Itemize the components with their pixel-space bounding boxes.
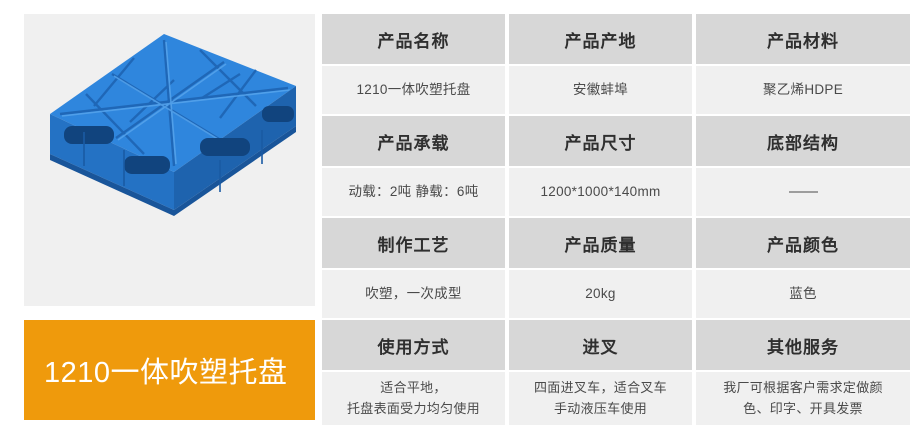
spec-header-cell: 底部结构 — [696, 116, 910, 166]
spec-header-cell: 产品质量 — [509, 218, 692, 268]
spec-value-row: 适合平地， 托盘表面受力均匀使用 四面进叉车，适合叉车 手动液压车使用 我厂可根… — [322, 372, 910, 425]
product-media-column: 1210一体吹塑托盘 — [24, 14, 315, 420]
spec-value-line: —— — [789, 180, 817, 203]
spec-value-line: 1210一体吹塑托盘 — [356, 80, 470, 101]
spec-value-cell: 蓝色 — [696, 270, 910, 318]
spec-value-cell: 20kg — [509, 270, 692, 318]
spec-value-row: 1210一体吹塑托盘 安徽蚌埠 聚乙烯HDPE — [322, 66, 910, 114]
spec-value-cell: —— — [696, 168, 910, 216]
spec-value-cell: 聚乙烯HDPE — [696, 66, 910, 114]
spec-value-line: 1200*1000*140mm — [540, 182, 660, 203]
spec-header-cell: 产品尺寸 — [509, 116, 692, 166]
spec-value-cell: 四面进叉车，适合叉车 手动液压车使用 — [509, 372, 692, 425]
spec-header-cell: 产品产地 — [509, 14, 692, 64]
spec-header-row: 产品名称 产品产地 产品材料 — [322, 14, 910, 64]
spec-header-row: 产品承载 产品尺寸 底部结构 — [322, 116, 910, 166]
spec-value-line: 动载：2吨 静载：6吨 — [348, 182, 478, 203]
spec-value-cell: 适合平地， 托盘表面受力均匀使用 — [322, 372, 505, 425]
spec-value-row: 动载：2吨 静载：6吨 1200*1000*140mm —— — [322, 168, 910, 216]
specification-table: 产品名称 产品产地 产品材料 1210一体吹塑托盘 安徽蚌埠 聚乙烯HDPE 产… — [322, 14, 910, 420]
spec-header-cell: 产品承载 — [322, 116, 505, 166]
spec-value-line: 聚乙烯HDPE — [763, 80, 843, 101]
spec-value-row: 吹塑，一次成型 20kg 蓝色 — [322, 270, 910, 318]
spec-header-cell: 产品材料 — [696, 14, 910, 64]
spec-header-cell: 产品名称 — [322, 14, 505, 64]
spec-header-cell: 使用方式 — [322, 320, 505, 370]
spec-value-cell: 我厂可根据客户需求定做颜 色、印字、开具发票 — [696, 372, 910, 425]
spec-value-line: 托盘表面受力均匀使用 — [347, 399, 480, 419]
spec-value-line: 适合平地， — [347, 378, 480, 398]
spec-value-line: 四面进叉车，适合叉车 — [534, 378, 667, 398]
spec-value-line: 色、印字、开具发票 — [723, 399, 883, 419]
spec-value-cell: 动载：2吨 静载：6吨 — [322, 168, 505, 216]
spec-value-cell: 1210一体吹塑托盘 — [322, 66, 505, 114]
spec-value-line: 20kg — [585, 284, 615, 305]
spec-value-line: 蓝色 — [789, 284, 817, 305]
spec-value-cell: 吹塑，一次成型 — [322, 270, 505, 318]
blue-plastic-pallet-icon — [24, 14, 315, 306]
spec-header-cell: 其他服务 — [696, 320, 910, 370]
product-name-banner: 1210一体吹塑托盘 — [24, 320, 315, 420]
spec-value-line: 手动液压车使用 — [534, 399, 667, 419]
spec-value-cell: 1200*1000*140mm — [509, 168, 692, 216]
spec-value-cell: 安徽蚌埠 — [509, 66, 692, 114]
spec-value-line: 安徽蚌埠 — [573, 80, 628, 101]
spec-header-cell: 制作工艺 — [322, 218, 505, 268]
spec-value-line: 吹塑，一次成型 — [365, 284, 462, 305]
spec-header-row: 使用方式 进叉 其他服务 — [322, 320, 910, 370]
product-name-banner-label: 1210一体吹塑托盘 — [24, 349, 288, 391]
product-photo — [24, 14, 315, 306]
spec-header-cell: 进叉 — [509, 320, 692, 370]
spec-header-row: 制作工艺 产品质量 产品颜色 — [322, 218, 910, 268]
spec-value-line: 我厂可根据客户需求定做颜 — [723, 378, 883, 398]
spec-header-cell: 产品颜色 — [696, 218, 910, 268]
product-detail-page: 1210一体吹塑托盘 产品名称 产品产地 产品材料 1210一体吹塑托盘 安徽蚌… — [0, 0, 910, 431]
